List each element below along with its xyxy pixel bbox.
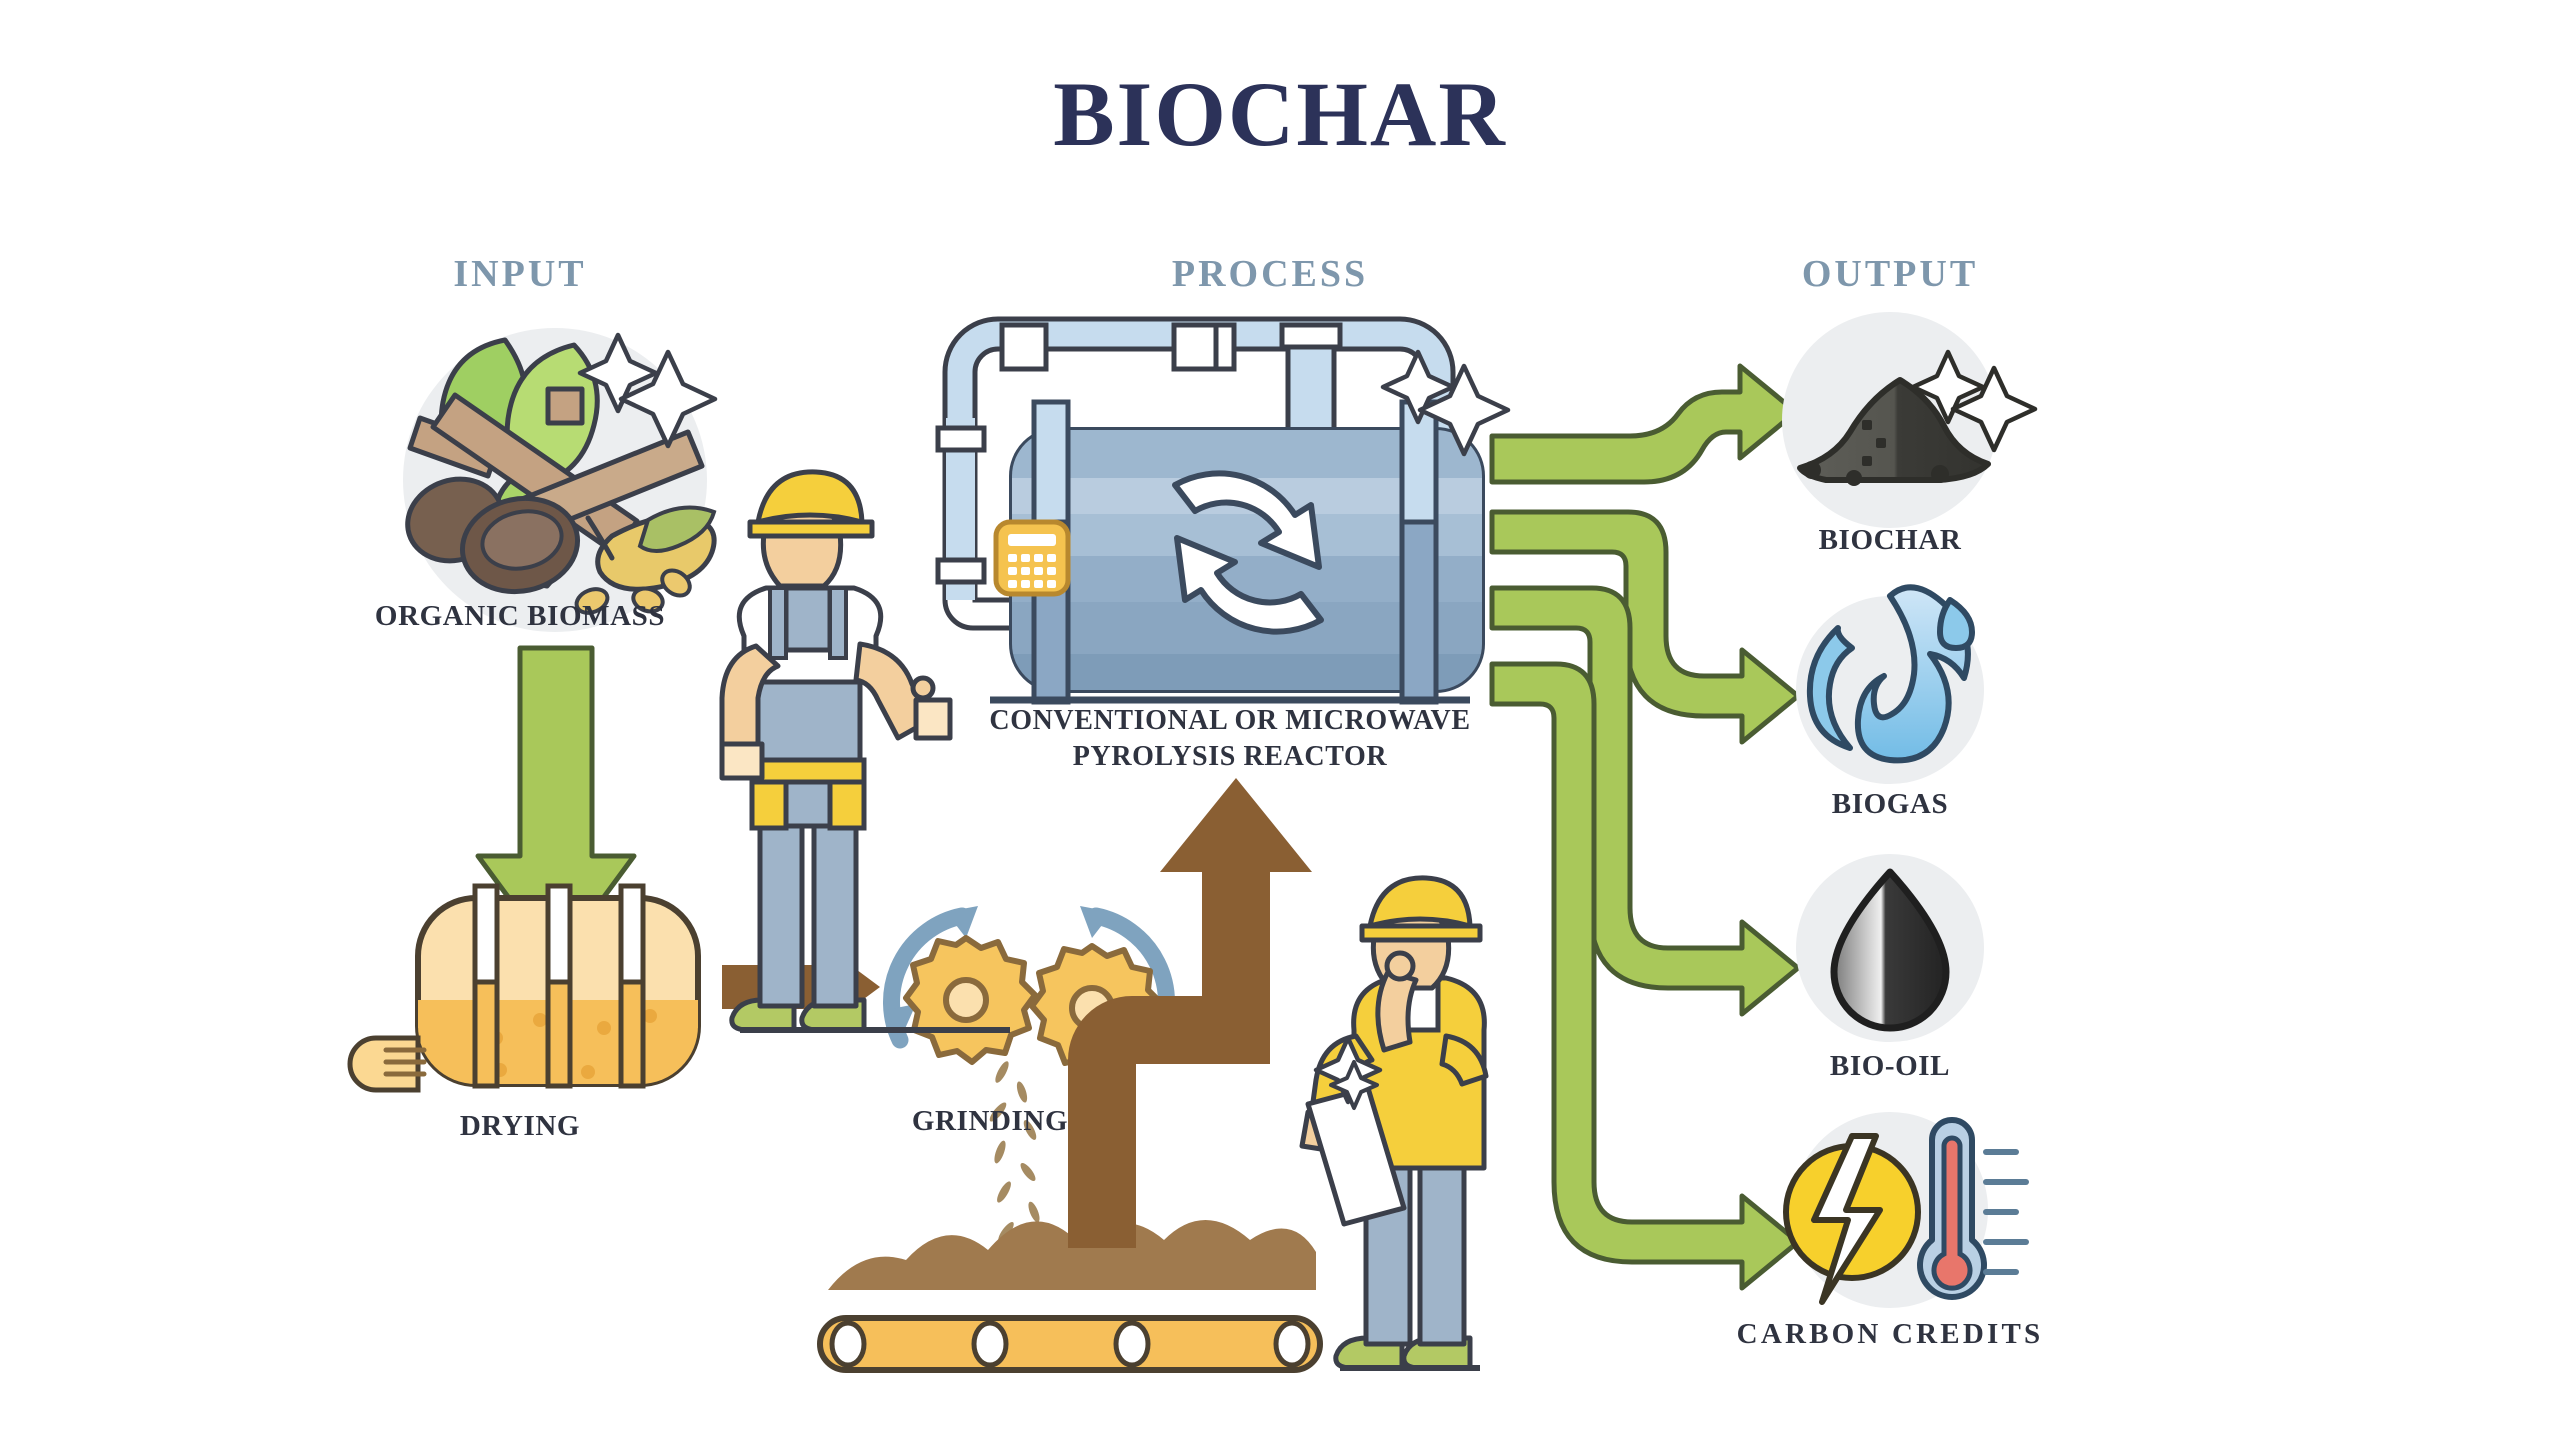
caption-pyrolysis-reactor: CONVENTIONAL OR MICROWAVE PYROLYSIS REAC… [930,703,1530,775]
caption-organic-biomass: ORGANIC BIOMASS [330,598,710,635]
caption-drying: DRYING [400,1108,640,1145]
arrow-to-carbon-credits [1492,664,1798,1288]
arrow-to-reactor [1068,778,1326,1248]
caption-reactor-line1: CONVENTIONAL OR MICROWAVE [930,703,1530,739]
organic-biomass-icon [397,328,715,632]
arrow-drying-to-grinding [722,941,880,1033]
arrow-biomass-to-drying [478,648,634,962]
section-header-input: INPUT [360,252,680,296]
reactor-output-arrows [1492,366,1798,1288]
biochar-pile-icon [1782,312,2035,528]
section-header-output: OUTPUT [1700,252,2080,296]
grinding-gears-icon [886,906,1172,1244]
infographic-canvas: BIOCHAR INPUT PROCESS OUTPUT [0,0,2560,1440]
drying-tank-icon [350,886,698,1090]
conveyor-belt-icon [820,1220,1320,1370]
arrow-to-biochar [1492,366,1796,482]
caption-reactor-line2: PYROLYSIS REACTOR [930,739,1530,775]
worker-clipboard-icon [1302,878,1486,1368]
flame-icon [1796,587,1984,784]
page-title: BIOCHAR [0,68,2560,160]
caption-output-carbon-credits: CARBON CREDITS [1700,1316,2080,1353]
caption-output-biooil: BIO-OIL [1740,1048,2040,1085]
pyrolysis-reactor-icon [938,319,1508,702]
section-header-process: PROCESS [1080,252,1460,296]
caption-grinding: GRINDING [860,1103,1120,1140]
caption-output-biogas: BIOGAS [1740,786,2040,823]
caption-output-biochar: BIOCHAR [1740,522,2040,559]
oil-droplet-icon [1796,854,1984,1042]
energy-thermometer-icon [1786,1112,2026,1308]
